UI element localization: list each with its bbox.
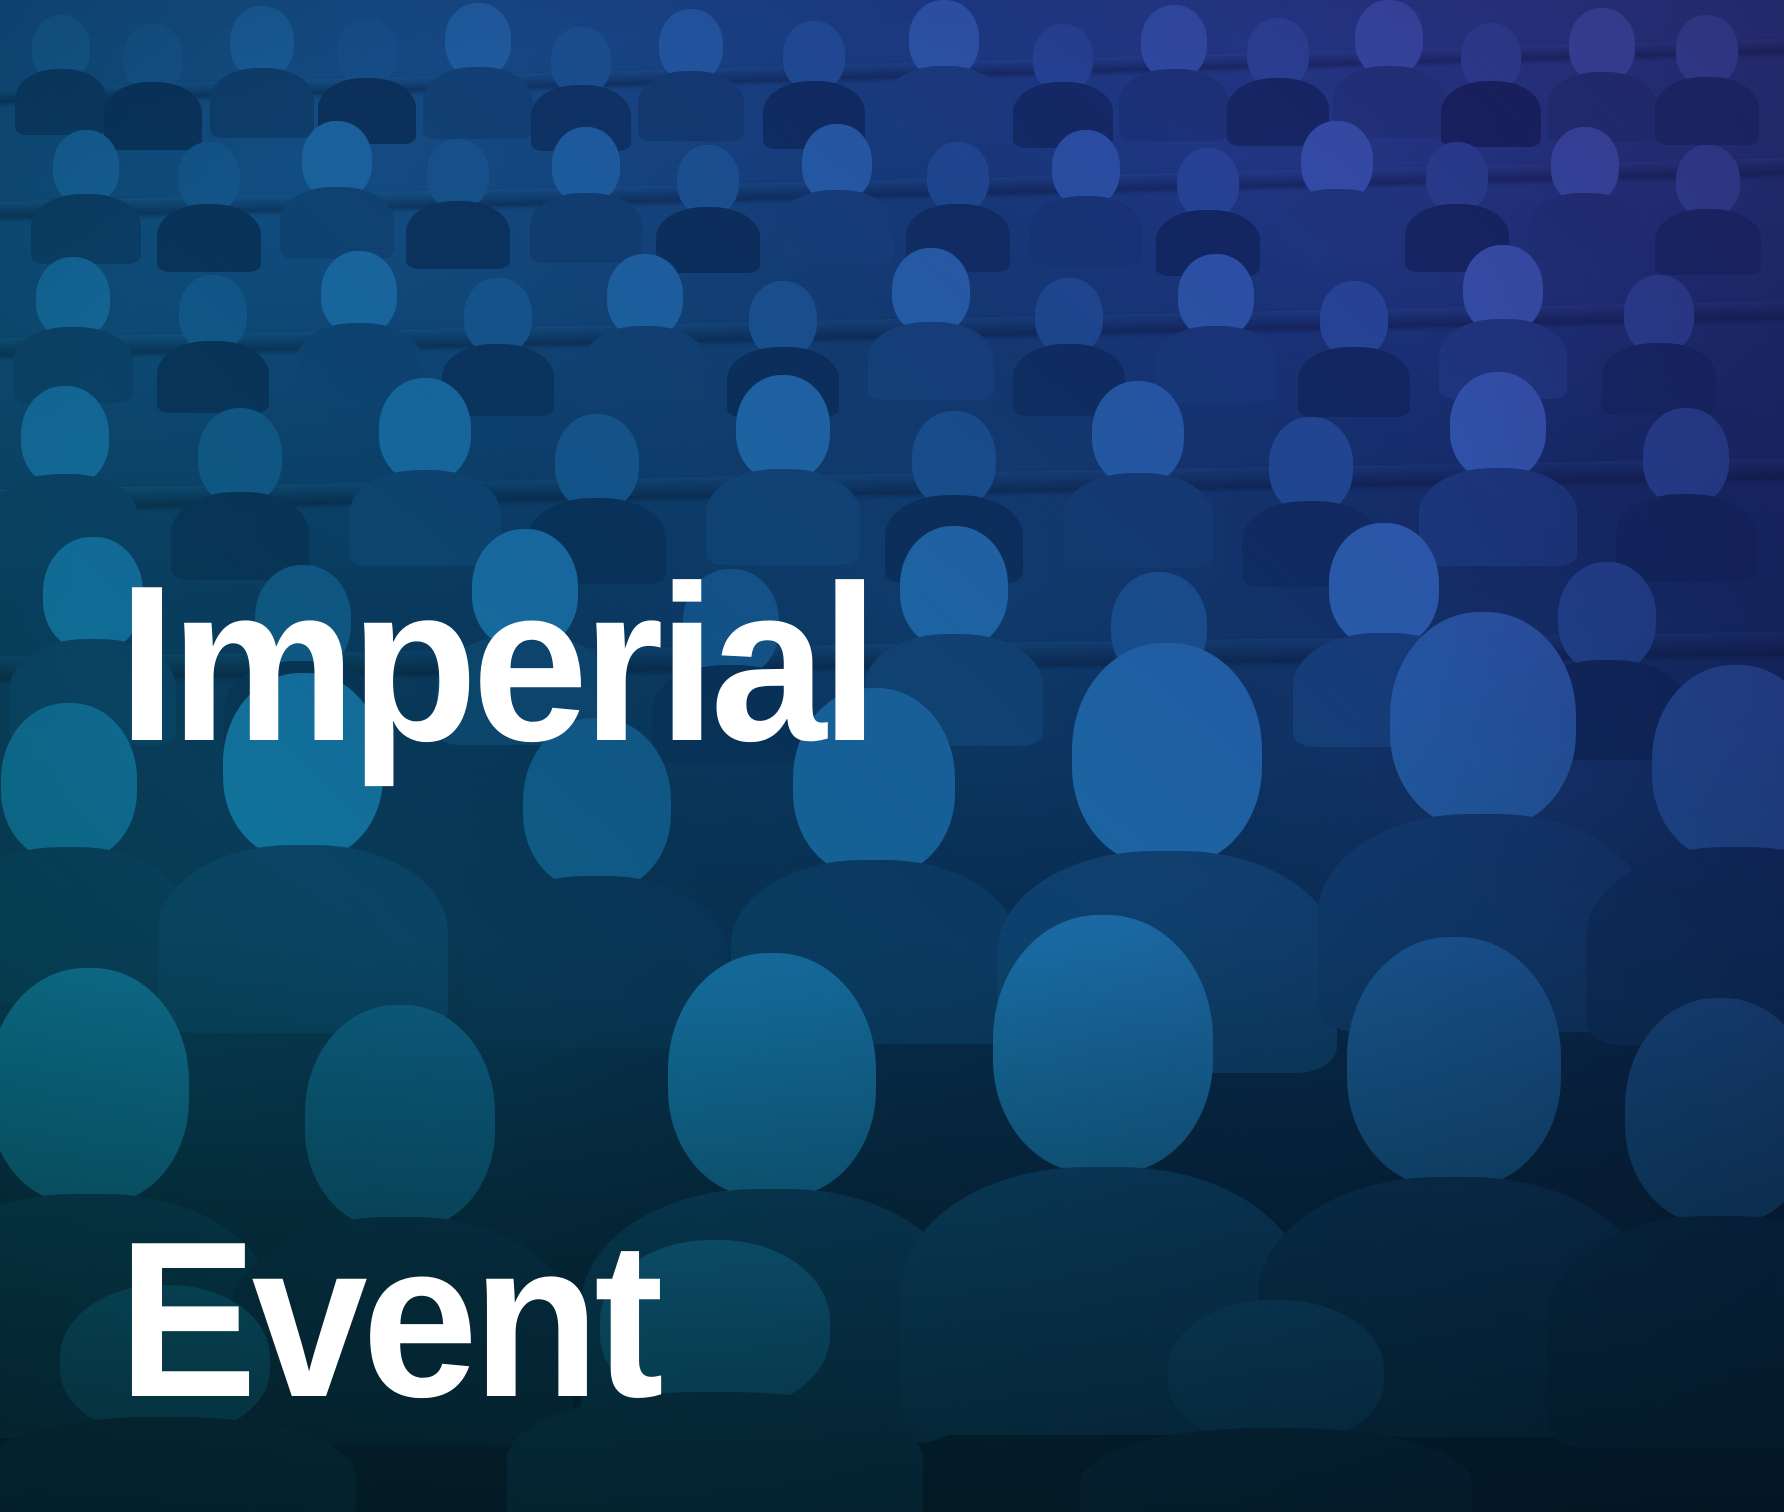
event-headline: Imperial Event: [118, 118, 873, 1512]
headline-line-2: Event: [118, 1211, 873, 1430]
event-banner: Imperial Event: [0, 0, 1784, 1512]
headline-line-1: Imperial: [118, 555, 873, 774]
